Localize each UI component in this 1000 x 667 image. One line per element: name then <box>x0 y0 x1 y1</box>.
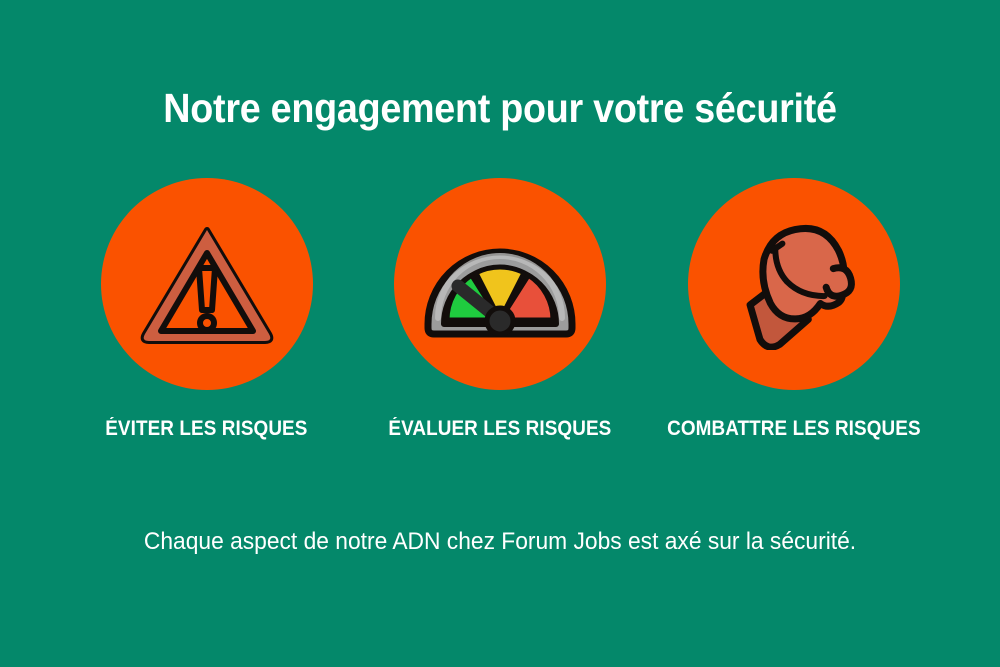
pillar-card-row: ÉVITER LES RISQUES <box>60 178 940 441</box>
badge-circle-evaluer <box>394 178 606 390</box>
badge-circle-combattre <box>688 178 900 390</box>
page-title: Notre engagement pour votre sécurité <box>40 84 960 132</box>
pillar-card-evaluer: ÉVALUER LES RISQUES <box>354 178 647 441</box>
pillar-label-evaluer: ÉVALUER LES RISQUES <box>389 417 612 441</box>
badge-circle-eviter <box>101 178 313 390</box>
footnote-text: Chaque aspect de notre ADN chez Forum Jo… <box>25 527 975 557</box>
pillar-label-combattre: COMBATTRE LES RISQUES <box>667 417 921 441</box>
pillar-card-eviter: ÉVITER LES RISQUES <box>60 178 353 441</box>
warning-triangle-icon <box>137 222 277 347</box>
gauge-meter-icon <box>422 228 578 340</box>
pillar-label-eviter: ÉVITER LES RISQUES <box>105 417 307 441</box>
safety-commitment-slide: Notre engagement pour votre sécurité <box>0 0 1000 667</box>
pillar-card-combattre: COMBATTRE LES RISQUES <box>647 178 940 441</box>
boxing-glove-icon <box>724 218 864 350</box>
